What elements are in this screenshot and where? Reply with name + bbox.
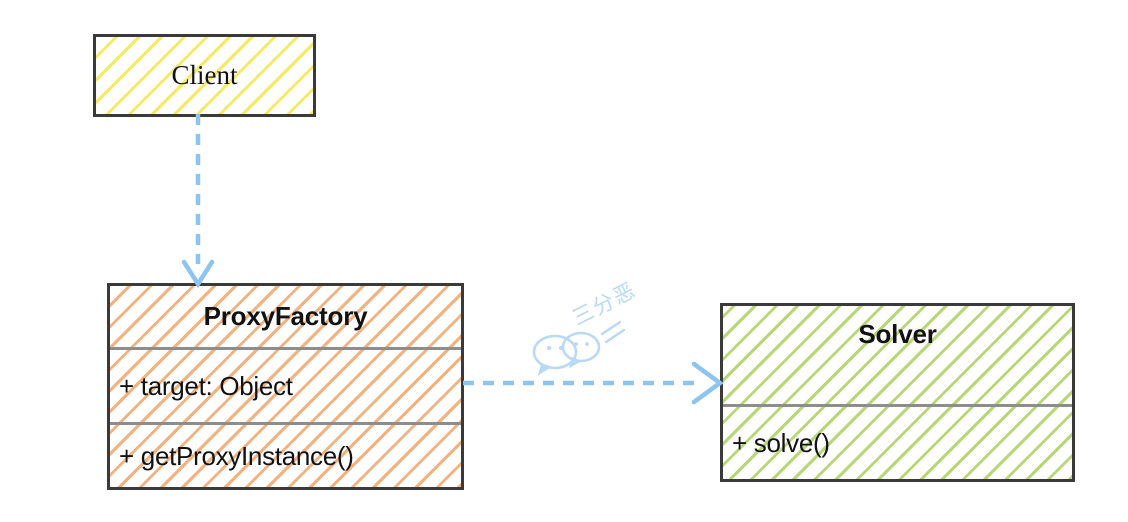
uml-class-solver-title: Solver <box>723 306 1072 362</box>
uml-class-proxyfactory-title: ProxyFactory <box>110 286 461 347</box>
connector-client-to-proxyfactory <box>160 112 240 292</box>
connector-client-to-proxyfactory-arrowhead <box>184 262 212 284</box>
diagram-canvas: Client ProxyFactory + target: Object + g… <box>0 0 1128 522</box>
uml-class-proxyfactory[interactable]: ProxyFactory + target: Object + getProxy… <box>107 283 464 490</box>
connector-proxyfactory-to-solver <box>460 355 728 413</box>
uml-class-client[interactable]: Client <box>93 34 316 117</box>
uml-class-proxyfactory-attribute-target: + target: Object <box>110 347 461 422</box>
watermark: 三分恶 <box>528 304 678 380</box>
uml-class-client-title: Client <box>96 37 313 114</box>
uml-class-solver[interactable]: Solver + solve() <box>720 303 1075 482</box>
connector-proxyfactory-to-solver-arrowhead <box>694 364 720 402</box>
uml-class-proxyfactory-operation-getproxyinstance: + getProxyInstance() <box>110 422 461 487</box>
uml-class-solver-operation-solve: + solve() <box>723 404 1072 479</box>
wechat-icon <box>528 304 678 380</box>
watermark-text: 三分恶 <box>566 274 641 332</box>
